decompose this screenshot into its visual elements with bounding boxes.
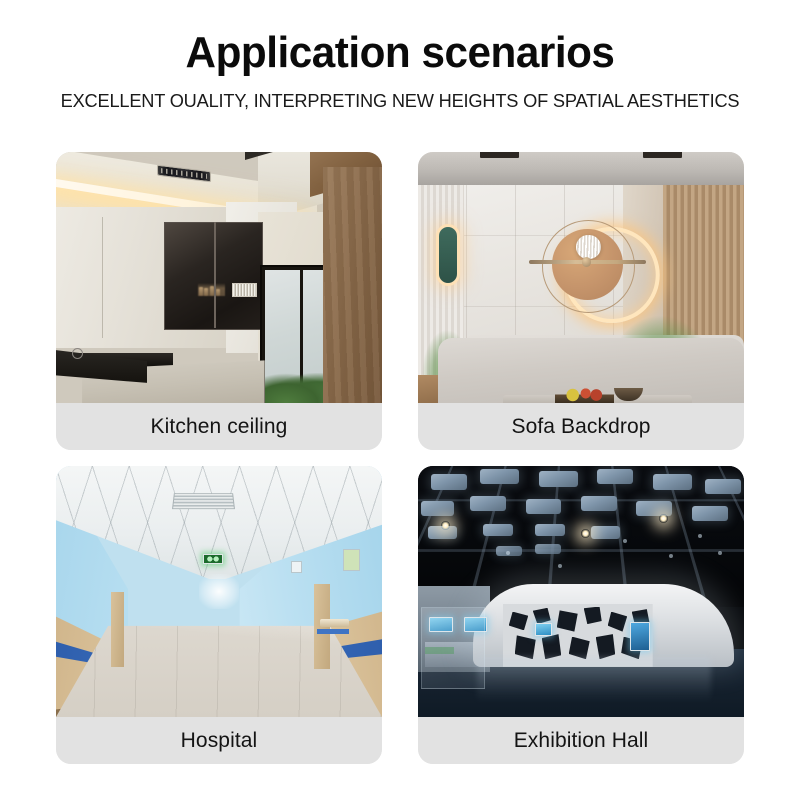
kitchen-wall-vent <box>232 283 257 298</box>
hospital-exit-sign <box>203 554 223 565</box>
hospital-wall-sign <box>291 561 303 573</box>
sofa-backdrop-photo <box>418 152 744 403</box>
kitchen-wood-panel-right <box>323 167 382 403</box>
exhibition-display-screen <box>535 623 552 636</box>
scenario-card-hospital[interactable]: Hospital <box>56 466 382 764</box>
hospital-corridor-photo <box>56 466 382 717</box>
hospital-ledge-rail <box>317 629 350 634</box>
exhibition-ceiling-panel <box>653 474 692 490</box>
exhibition-display-screen <box>630 622 650 652</box>
page-title: Application scenarios <box>16 30 784 76</box>
sofa-ceiling-slot-right <box>643 152 682 158</box>
exhibition-ceiling-panel <box>581 496 617 511</box>
scenario-card-sofa-backdrop[interactable]: Sofa Backdrop <box>418 152 744 450</box>
exhibition-ceiling-panel <box>470 496 506 511</box>
exhibition-lattice-hole <box>557 610 578 631</box>
scenario-label-hospital: Hospital <box>56 717 382 764</box>
exhibition-ceiling-spotlight <box>441 521 450 530</box>
exhibition-lattice-hole <box>509 612 528 631</box>
scenario-label-kitchen-ceiling: Kitchen ceiling <box>56 403 382 450</box>
exhibition-lattice-hole <box>533 608 551 624</box>
exhibition-hall-photo <box>418 466 744 717</box>
kitchen-jars <box>198 283 225 296</box>
exhibition-lattice-hole <box>596 634 615 659</box>
hospital-wall-notice-board <box>343 549 360 571</box>
exhibition-ceiling-panel <box>431 474 467 490</box>
exhibition-ceiling-panel <box>480 469 519 484</box>
exhibition-lattice-hole <box>584 607 602 625</box>
kitchen-cabinet-seam <box>102 217 103 337</box>
exhibition-lattice-hole <box>542 634 561 659</box>
exhibition-downlight <box>669 554 673 558</box>
scenario-card-kitchen-ceiling[interactable]: Kitchen ceiling <box>56 152 382 450</box>
sofa-pill-wall-light <box>439 227 457 282</box>
exhibition-ceiling-panel <box>597 469 633 484</box>
scenario-card-exhibition-hall[interactable]: Exhibition Hall <box>418 466 744 764</box>
exhibition-lattice-hole <box>515 635 536 659</box>
sofa-small-white-disc <box>576 235 600 259</box>
exhibition-ceiling-panel <box>535 544 561 554</box>
exhibition-ceiling-panel <box>539 471 578 487</box>
sofa-fruit-tray <box>555 383 614 403</box>
scenario-label-sofa-backdrop: Sofa Backdrop <box>418 403 744 450</box>
exhibition-ceiling-panel <box>421 501 454 516</box>
exhibition-ceiling-panel <box>705 479 741 494</box>
kitchen-ceiling-photo <box>56 152 382 403</box>
application-scenarios-page: Application scenarios EXCELLENT OUALITY,… <box>0 0 800 800</box>
exhibition-lattice-hole <box>608 612 627 632</box>
hospital-ledge <box>320 619 349 627</box>
exhibition-ceiling-panel <box>535 524 564 537</box>
hospital-door-left <box>111 592 124 667</box>
exhibition-ceiling-panel <box>692 506 728 521</box>
exhibition-ceiling-panel <box>483 524 512 537</box>
sofa-ceiling-slot-left <box>480 152 519 158</box>
exhibition-glass-partition <box>421 607 485 689</box>
exhibition-floor-reflection <box>477 657 712 717</box>
kitchen-glass-divider <box>214 222 216 327</box>
exhibition-ceiling-panel <box>636 501 672 516</box>
hospital-ceiling-vent <box>172 493 235 508</box>
scenario-label-exhibition-hall: Exhibition Hall <box>418 717 744 764</box>
exhibition-ceiling-panel <box>591 526 620 539</box>
scenario-card-grid: Kitchen ceiling <box>56 152 744 764</box>
sofa-ceiling <box>418 152 744 185</box>
hospital-corridor-end-light <box>199 574 238 609</box>
exhibition-ceiling-spotlight <box>659 514 668 523</box>
exhibition-ceiling-spotlight <box>581 529 590 538</box>
page-subtitle: EXCELLENT OUALITY, INTERPRETING NEW HEIG… <box>6 90 794 112</box>
exhibition-ceiling-panel <box>526 499 562 514</box>
page-header: Application scenarios EXCELLENT OUALITY,… <box>0 0 800 112</box>
